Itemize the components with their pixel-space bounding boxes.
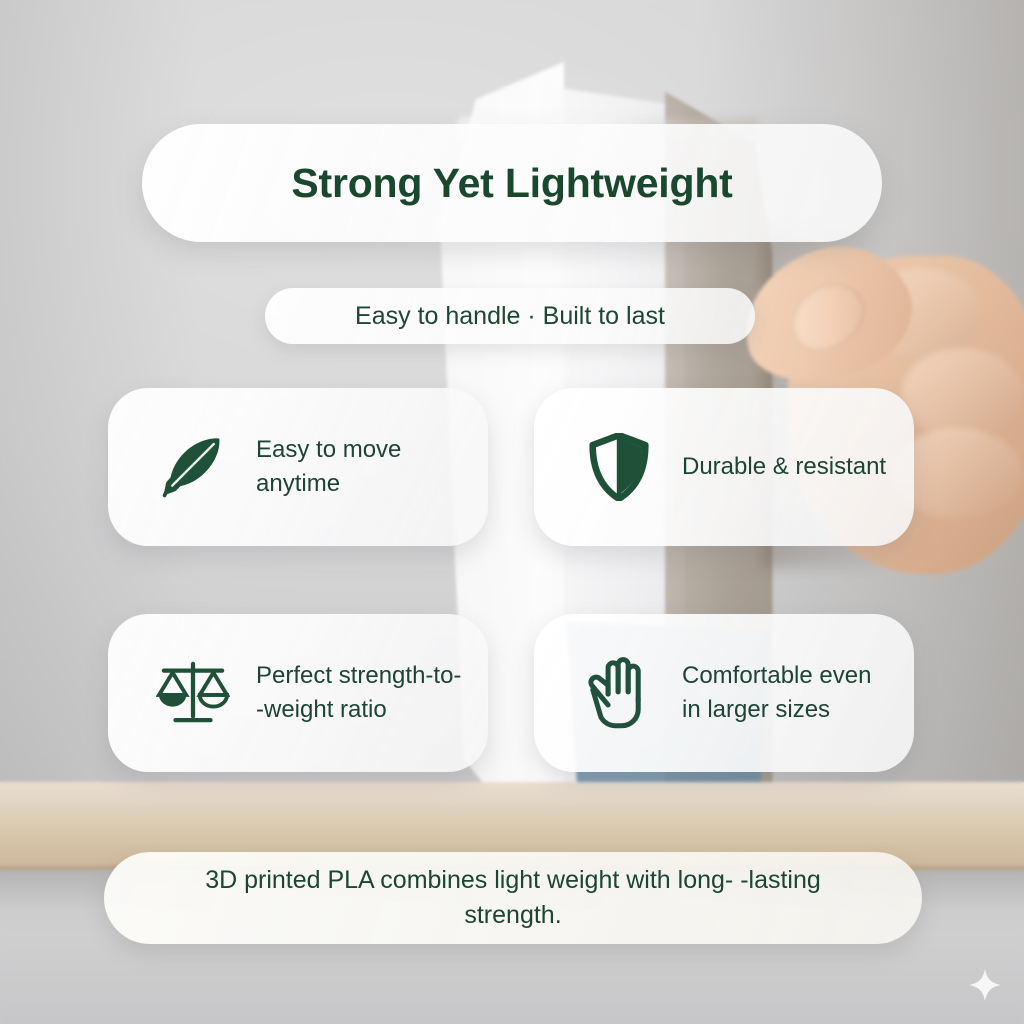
feature-card-comfortable[interactable]: Comfortable even in larger sizes [534, 614, 914, 772]
overlay-layer: Strong Yet Lightweight Easy to handle · … [0, 0, 1024, 1024]
feature-card-strength-to-weight[interactable]: Perfect strength-to- -weight ratio [108, 614, 488, 772]
feather-icon [156, 430, 230, 504]
open-hand-icon [582, 656, 656, 730]
feature-label: Comfortable even in larger sizes [682, 659, 892, 727]
page-subtitle: Easy to handle · Built to last [355, 302, 665, 331]
footer-pill: 3D printed PLA combines light weight wit… [104, 852, 922, 944]
balance-scale-icon [156, 656, 230, 730]
subtitle-pill: Easy to handle · Built to last [265, 288, 755, 344]
infographic-canvas: Strong Yet Lightweight Easy to handle · … [0, 0, 1024, 1024]
sparkle-icon [968, 968, 1002, 1002]
feature-card-durable[interactable]: Durable & resistant [534, 388, 914, 546]
feature-label: Perfect strength-to- -weight ratio [256, 659, 466, 727]
shield-icon [582, 430, 656, 504]
title-pill: Strong Yet Lightweight [142, 124, 882, 242]
feature-label: Durable & resistant [682, 450, 886, 484]
feature-label: Easy to move anytime [256, 433, 466, 501]
page-title: Strong Yet Lightweight [291, 160, 732, 207]
feature-card-easy-to-move[interactable]: Easy to move anytime [108, 388, 488, 546]
footer-text: 3D printed PLA combines light weight wit… [163, 863, 863, 934]
